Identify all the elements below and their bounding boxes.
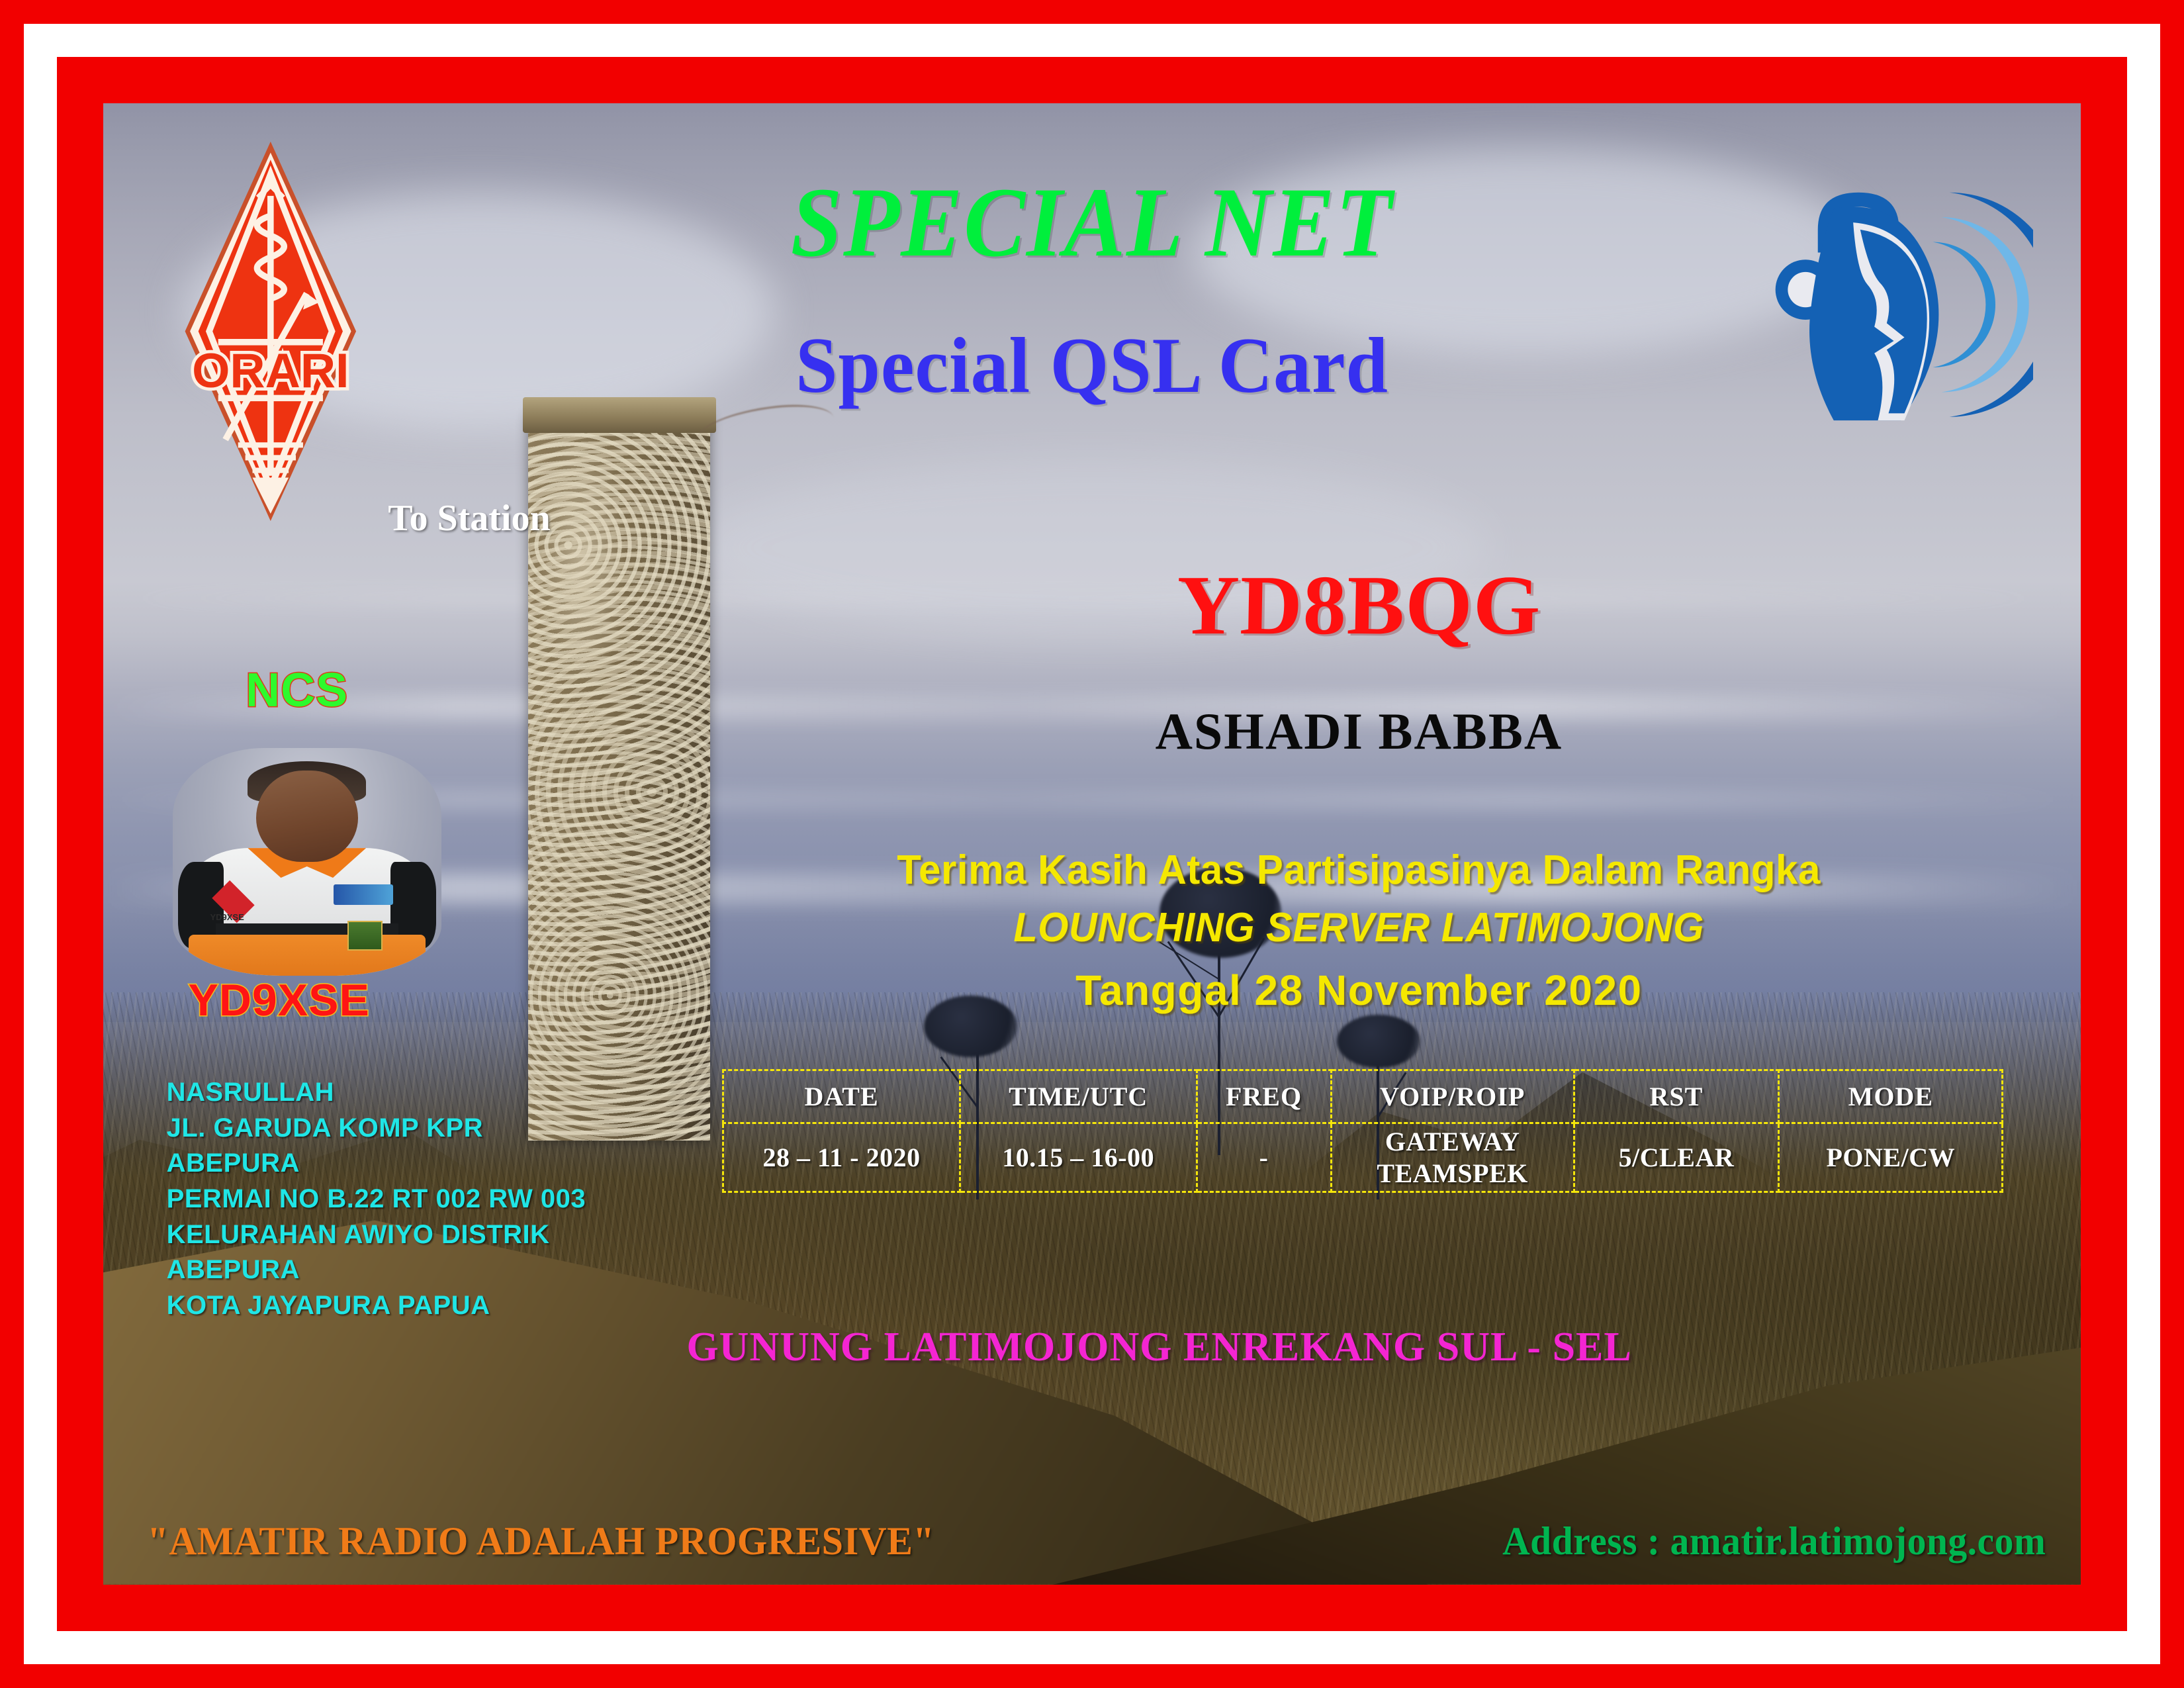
address-line: KELURAHAN AWIYO DISTRIK [167,1217,586,1253]
column-header-time-utc: TIME/UTC [960,1070,1197,1123]
cell-voip-roip: GATEWAY TEAMSPEK [1331,1123,1574,1192]
column-header-freq: FREQ [1197,1070,1331,1123]
recipient-operator-name: ASHADI BABBA [756,702,1962,761]
tree-canopy [1337,1015,1420,1068]
cell-voip-roip-line-2: TEAMSPEK [1332,1158,1573,1189]
operator-waist-band [189,935,426,976]
recipient-callsign: YD8BQG [743,557,1975,654]
thanks-line-3-event-date: Tanggal 28 November 2020 [716,966,2001,1015]
sender-address-block: NASRULLAH JL. GARUDA KOMP KPR ABEPURA PE… [167,1075,586,1323]
stone-monument-pillar [528,414,710,1141]
address-line: NASRULLAH [167,1075,586,1111]
page-title-special-net: SPECIAL NET [173,165,2012,279]
page-subtitle-special-qsl-card: Special QSL Card [153,320,2032,411]
table-row: 28 – 11 - 2020 10.15 – 16-00 - GATEWAY T… [723,1123,2003,1192]
ncs-operator-photo: YD9XSE [173,748,441,976]
footer-website-address: Address : amatir.latimojong.com [1502,1519,2046,1564]
address-line: JL. GARUDA KOMP KPR [167,1111,586,1147]
thanks-line-2-event-name: LOUNCHING SERVER LATIMOJONG [742,904,1976,951]
address-line: PERMAI NO B.22 RT 002 RW 003 [167,1182,586,1217]
cell-time-utc: 10.15 – 16-00 [960,1123,1197,1192]
cell-date: 28 – 11 - 2020 [723,1123,960,1192]
operator-id-card [347,921,383,951]
operator-face [256,771,358,862]
column-header-date: DATE [723,1070,960,1123]
qso-details-table: DATE TIME/UTC FREQ VOIP/ROIP RST MODE 28… [722,1069,2003,1193]
footer-slogan: "AMATIR RADIO ADALAH PROGRESIVE" [147,1519,934,1564]
thanks-line-1: Terima Kasih Atas Partisipasinya Dalam R… [735,847,1982,894]
address-line: ABEPURA [167,1146,586,1182]
thanks-message-block: Terima Kasih Atas Partisipasinya Dalam R… [716,847,2001,1015]
event-location: GUNUNG LATIMOJONG ENREKANG SUL - SEL [686,1324,1631,1371]
qsl-card-white-border: ORARI [24,24,2160,1664]
column-header-voip-roip: VOIP/ROIP [1331,1070,1574,1123]
ncs-callsign: YD9XSE [188,974,369,1026]
cell-rst: 5/CLEAR [1574,1123,1778,1192]
to-station-label: To Station [388,497,550,539]
address-line: ABEPURA [167,1252,586,1288]
table-header-row: DATE TIME/UTC FREQ VOIP/ROIP RST MODE [723,1070,2003,1123]
column-header-rst: RST [1574,1070,1778,1123]
address-line: KOTA JAYAPURA PAPUA [167,1288,586,1324]
qsl-card-inner-red-border: ORARI [57,57,2127,1631]
ncs-label: NCS [246,663,348,718]
qsl-card-photo-background: ORARI [103,103,2081,1585]
operator-shirt-callsign: YD9XSE [210,912,244,922]
cell-freq: - [1197,1123,1331,1192]
column-header-mode: MODE [1779,1070,2003,1123]
cell-mode: PONE/CW [1779,1123,2003,1192]
qsl-card-outer-border: ORARI [0,0,2184,1688]
operator-chest-badge [334,884,392,905]
cell-voip-roip-line-1: GATEWAY [1332,1126,1573,1157]
